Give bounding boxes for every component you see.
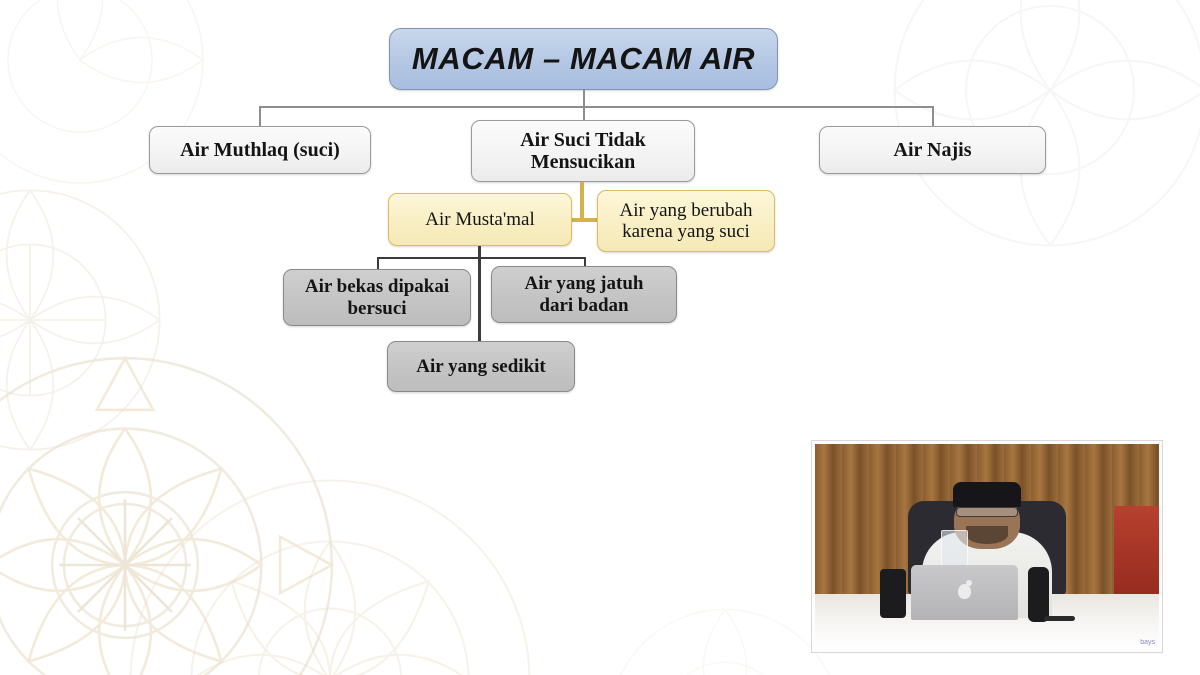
microphone-right-icon <box>1028 567 1049 622</box>
apple-logo-icon <box>958 584 971 599</box>
connector-drop-air-muthlaq <box>259 106 261 126</box>
node-air-yang-sedikit[interactable]: Air yang sedikit <box>387 341 575 392</box>
glasses-icon <box>956 507 1018 517</box>
connector-level3-bus <box>377 257 586 259</box>
node-air-bekas-label-line1: Air bekas dipakai <box>284 276 470 297</box>
node-title-label: MACAM – MACAM AIR <box>390 42 777 77</box>
songkok-cap-icon <box>953 482 1022 507</box>
node-air-jatuh-label-line2: dari badan <box>492 295 676 316</box>
connector-level1-bus <box>259 106 934 108</box>
node-air-suci-label-line1: Air Suci Tidak <box>472 129 694 151</box>
node-air-yang-berubah-label-line1: Air yang berubah <box>598 200 774 221</box>
node-air-sedikit-label: Air yang sedikit <box>388 356 574 377</box>
connector-drop-air-najis <box>932 106 934 126</box>
drinking-glass <box>941 530 969 567</box>
video-watermark: bays <box>1140 639 1155 646</box>
connector-level3-stem <box>478 246 481 343</box>
presenter-webcam-video[interactable]: bays <box>812 441 1162 652</box>
node-air-najis-label: Air Najis <box>820 139 1045 161</box>
node-air-bekas-label-line2: bersuci <box>284 298 470 319</box>
node-air-suci-label-line2: Mensucikan <box>472 151 694 173</box>
node-title-macam-macam-air[interactable]: MACAM – MACAM AIR <box>389 28 778 90</box>
node-air-bekas-dipakai-bersuci[interactable]: Air bekas dipakai bersuci <box>283 269 471 326</box>
presentation-slide: MACAM – MACAM AIR Air Muthlaq (suci) Air… <box>0 0 1200 675</box>
node-air-muthlaq[interactable]: Air Muthlaq (suci) <box>149 126 371 174</box>
node-air-muthlaq-label: Air Muthlaq (suci) <box>150 139 370 161</box>
connector-level2-stem <box>580 182 584 220</box>
node-air-suci-tidak-mensucikan[interactable]: Air Suci Tidak Mensucikan <box>471 120 695 182</box>
node-air-mustamal[interactable]: Air Musta'mal <box>388 193 572 246</box>
node-air-jatuh-label-line1: Air yang jatuh <box>492 273 676 294</box>
node-air-yang-berubah-label-line2: karena yang suci <box>598 221 774 242</box>
node-air-mustamal-label: Air Musta'mal <box>389 209 571 230</box>
connector-drop-air-suci-tidak-mensucikan <box>583 106 585 120</box>
node-air-najis[interactable]: Air Najis <box>819 126 1046 174</box>
node-air-yang-jatuh-dari-badan[interactable]: Air yang jatuh dari badan <box>491 266 677 323</box>
connector-title-stem <box>583 90 585 107</box>
microphone-left-icon <box>880 569 906 618</box>
microphone-stand <box>1044 616 1075 621</box>
red-panel <box>1114 506 1159 604</box>
node-air-yang-berubah[interactable]: Air yang berubah karena yang suci <box>597 190 775 252</box>
